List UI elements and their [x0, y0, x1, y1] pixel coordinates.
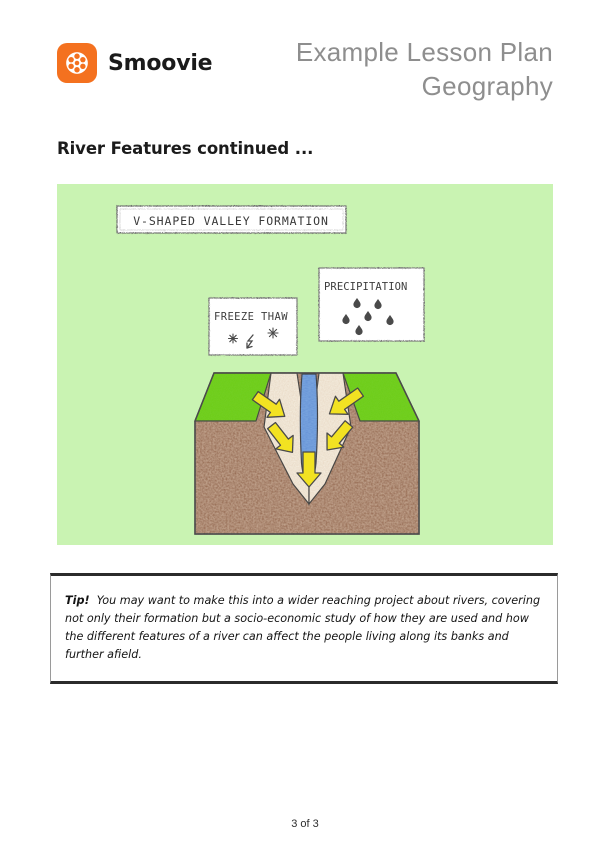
tip-lead-label: Tip! [65, 594, 90, 607]
document-title: Example Lesson Plan Geography [296, 36, 553, 103]
tip-callout-box: Tip! You may want to make this into a wi… [50, 573, 558, 684]
page-header: Smoovie Example Lesson Plan Geography [0, 0, 610, 120]
brand-lockup: Smoovie [57, 43, 212, 83]
figure-title-text: V-SHAPED VALLEY FORMATION [133, 214, 329, 228]
precipitation-label: PRECIPITATION [324, 281, 407, 293]
valley-formation-illustration: V-SHAPED VALLEY FORMATION FREEZE THAW PR… [57, 184, 553, 545]
precipitation-box [319, 268, 424, 341]
freeze-thaw-box [209, 298, 297, 355]
brand-name: Smoovie [108, 51, 212, 76]
tip-body-text: You may want to make this into a wider r… [65, 594, 540, 661]
lesson-plan-page: Smoovie Example Lesson Plan Geography Ri… [0, 0, 610, 862]
page-footer: 3 of 3 [0, 818, 610, 830]
tip-paragraph: Tip! You may want to make this into a wi… [65, 592, 541, 665]
section-heading: River Features continued ... [57, 139, 313, 158]
film-reel-icon [57, 43, 97, 83]
freeze-thaw-label: FREEZE THAW [214, 311, 288, 323]
valley-formation-figure: V-SHAPED VALLEY FORMATION FREEZE THAW PR… [57, 184, 553, 545]
page-number: 3 of 3 [291, 818, 319, 830]
valley-block [195, 373, 419, 534]
document-title-line-1: Example Lesson Plan [296, 36, 553, 70]
document-title-line-2: Geography [296, 70, 553, 104]
